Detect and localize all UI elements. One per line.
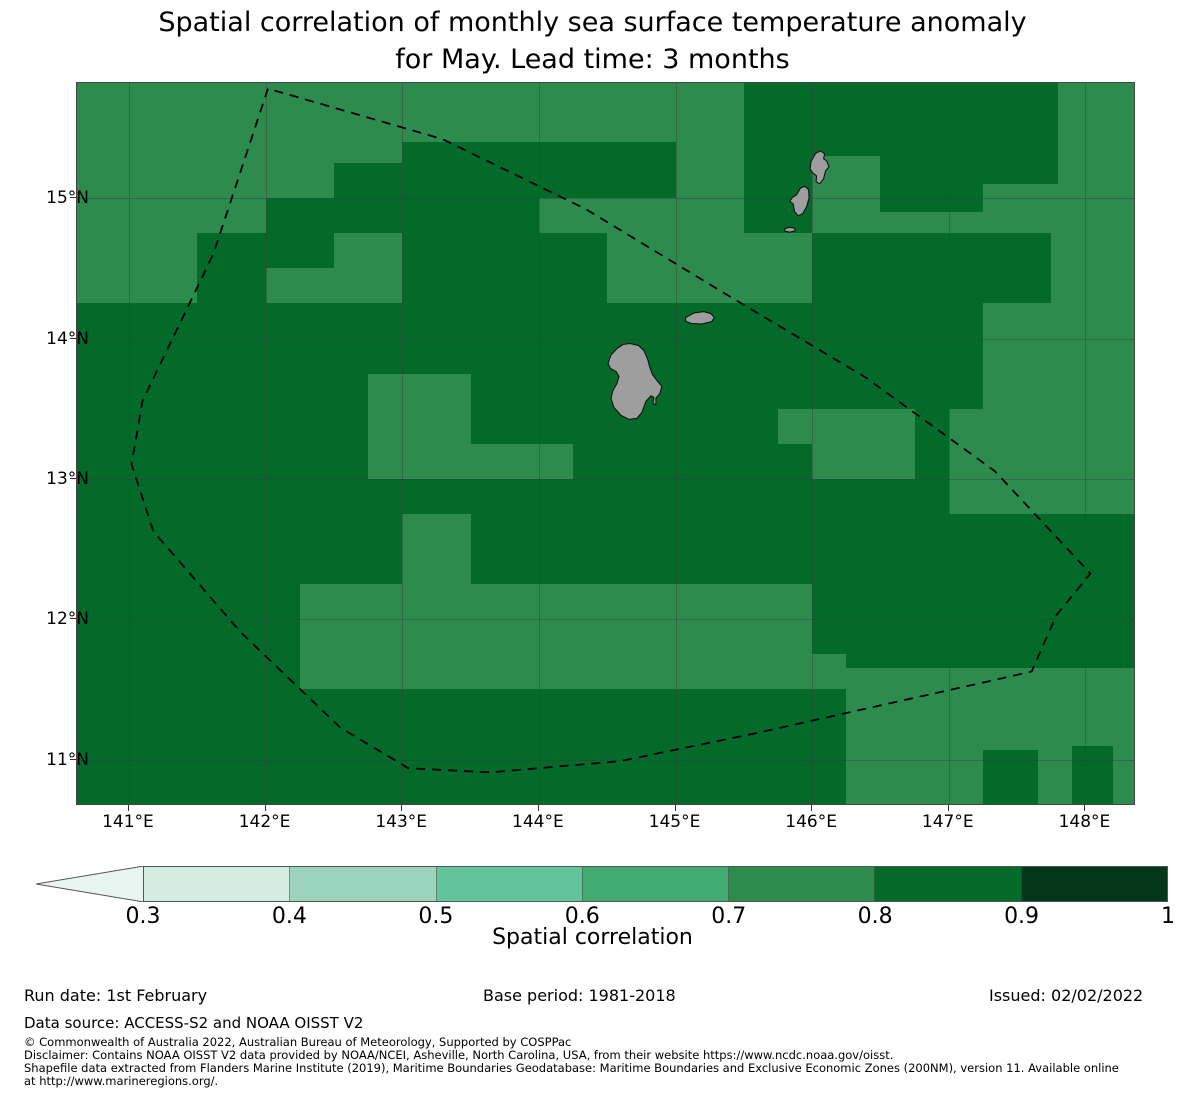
- footer-issued: Issued: 02/02/2022: [989, 986, 1143, 1005]
- colorbar-axis-label: Spatial correlation: [0, 925, 1185, 950]
- x-axis-tick-mark: [401, 805, 402, 811]
- island-shapes: [77, 83, 1134, 805]
- map-plot-area[interactable]: [76, 82, 1135, 805]
- island-rota: [685, 312, 714, 324]
- footer-base-period: Base period: 1981-2018: [483, 986, 676, 1005]
- y-axis-tick-mark: [70, 759, 76, 760]
- x-axis-tick-mark: [948, 805, 949, 811]
- colorbar-segment: [144, 867, 289, 901]
- x-axis-tick-mark: [538, 805, 539, 811]
- x-axis-tick-label: 145°E: [649, 812, 701, 832]
- y-axis-tick-label: 14°N: [0, 329, 89, 349]
- disclaimer-line-4: at http://www.marineregions.org/.: [24, 1074, 218, 1088]
- island-tinian: [790, 186, 809, 215]
- y-axis-tick-mark: [70, 338, 76, 339]
- x-axis-tick-label: 146°E: [785, 812, 837, 832]
- colorbar-segment: [436, 867, 582, 901]
- island-aguijan: [785, 227, 795, 232]
- x-axis-tick-label: 142°E: [239, 812, 291, 832]
- y-axis-tick-label: 11°N: [0, 750, 89, 770]
- disclaimer-line-3: Shapefile data extracted from Flanders M…: [24, 1061, 1119, 1075]
- colorbar[interactable]: [18, 866, 1168, 902]
- y-axis-tick-mark: [70, 197, 76, 198]
- island-saipan: [810, 151, 829, 184]
- disclaimer-line-2: Disclaimer: Contains NOAA OISST V2 data …: [24, 1048, 893, 1062]
- island-guam: [608, 344, 662, 420]
- x-axis-tick-label: 143°E: [375, 812, 427, 832]
- y-axis-tick-mark: [70, 618, 76, 619]
- y-axis-tick-label: 13°N: [0, 469, 89, 489]
- colorbar-segment: [289, 867, 435, 901]
- x-axis-tick-label: 141°E: [102, 812, 154, 832]
- x-axis-tick-label: 148°E: [1059, 812, 1111, 832]
- y-axis-tick-mark: [70, 478, 76, 479]
- chart-title-line-2: for May. Lead time: 3 months: [0, 41, 1185, 78]
- y-axis-tick-label: 15°N: [0, 188, 89, 208]
- colorbar-segment: [728, 867, 874, 901]
- footer-data-source: Data source: ACCESS-S2 and NOAA OISST V2: [24, 1014, 363, 1032]
- colorbar-extend-arrow: [36, 866, 144, 902]
- x-axis-tick-mark: [128, 805, 129, 811]
- x-axis-tick-mark: [265, 805, 266, 811]
- colorbar-segment: [582, 867, 728, 901]
- y-axis-tick-label: 12°N: [0, 609, 89, 629]
- colorbar-segment: [874, 867, 1020, 901]
- x-axis-tick-mark: [811, 805, 812, 811]
- colorbar-segments: [143, 866, 1168, 902]
- x-axis-tick-label: 147°E: [922, 812, 974, 832]
- chart-title-line-1: Spatial correlation of monthly sea surfa…: [0, 4, 1185, 41]
- footer-run-date: Run date: 1st February: [24, 986, 207, 1005]
- x-axis-tick-label: 144°E: [512, 812, 564, 832]
- x-axis-tick-mark: [675, 805, 676, 811]
- colorbar-segment: [1021, 867, 1167, 901]
- x-axis-tick-mark: [1084, 805, 1085, 811]
- chart-title: Spatial correlation of monthly sea surfa…: [0, 4, 1185, 78]
- disclaimer-line-1: © Commonwealth of Australia 2022, Austra…: [24, 1035, 571, 1049]
